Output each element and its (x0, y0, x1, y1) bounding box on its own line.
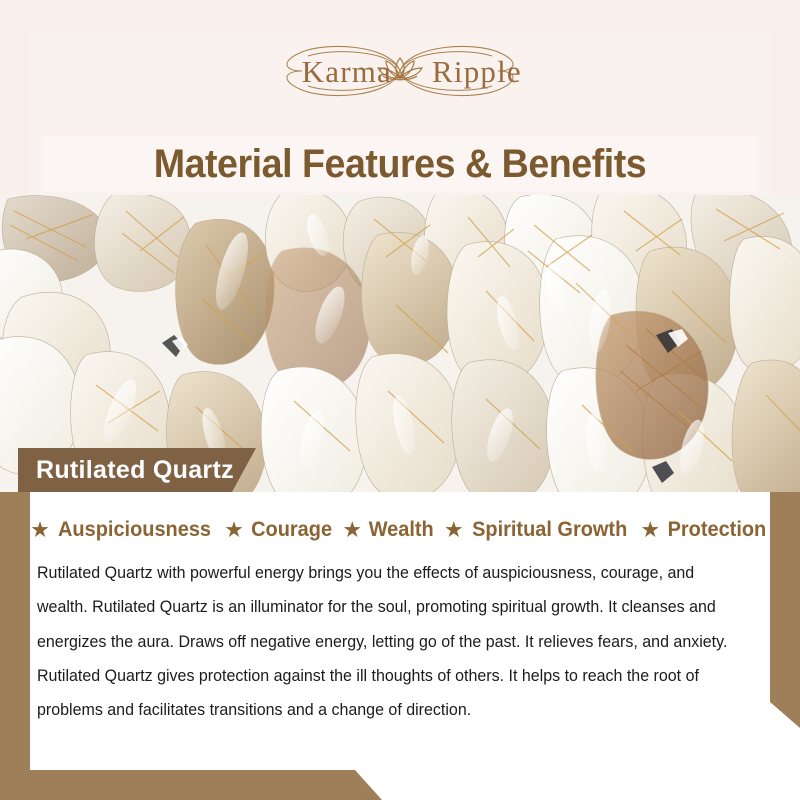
body-section: ★ Auspiciousness ★ Courage ★ Wealth ★ Sp… (30, 492, 770, 770)
star-icon: ★ (31, 521, 48, 540)
brand-logo: Karma Ripple (0, 38, 800, 104)
title-plate: Material Features & Benefits (43, 136, 757, 192)
feature-label: Wealth (369, 518, 434, 542)
feature-label: Protection (667, 518, 766, 542)
feature-item-wealth: ★ Wealth (344, 518, 436, 542)
brand-word-right: Ripple (432, 54, 522, 89)
hero-photo (0, 195, 800, 492)
feature-label: Auspiciousness (59, 518, 212, 542)
star-icon: ★ (445, 521, 462, 540)
feature-label: Spiritual Growth (472, 518, 627, 542)
feature-item-courage: ★ Courage (226, 518, 334, 542)
frame-band-bottom (0, 770, 800, 800)
stone-name-banner: Rutilated Quartz (18, 448, 256, 492)
feature-item-spiritual-growth: ★ Spiritual Growth (445, 518, 631, 542)
description-text: Rutilated Quartz with powerful energy br… (37, 556, 741, 728)
star-icon: ★ (344, 521, 361, 540)
feature-label: Courage (251, 518, 332, 542)
brand-word-left: Karma (302, 54, 392, 89)
infographic-page: Karma Ripple Material Features & Benefit… (0, 0, 800, 800)
stone-name-label: Rutilated Quartz (36, 458, 234, 483)
logo-artwork: Karma Ripple (240, 38, 560, 104)
feature-item-protection: ★ Protection (642, 518, 769, 542)
page-title: Material Features & Benefits (154, 144, 647, 184)
header-section: Karma Ripple Material Features & Benefit… (0, 0, 800, 196)
features-list: ★ Auspiciousness ★ Courage ★ Wealth ★ Sp… (30, 518, 770, 542)
quartz-stones-illustration (0, 195, 800, 492)
star-icon: ★ (226, 521, 243, 540)
feature-item-auspiciousness: ★ Auspiciousness (31, 518, 215, 542)
star-icon: ★ (642, 521, 659, 540)
